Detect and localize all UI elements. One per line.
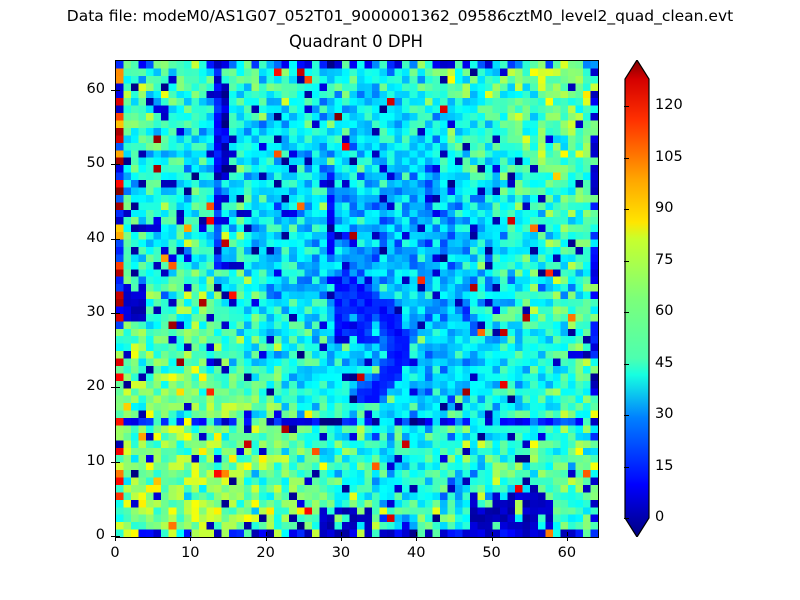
x-tick-label: 0 [85,545,145,562]
colorbar-tick-mark [624,158,629,159]
x-tick-mark [190,537,191,541]
colorbar-tick-mark [624,467,629,468]
x-tick-mark [115,537,116,541]
colorbar-tick-mark [624,518,629,519]
y-tick-mark-inner [116,387,120,388]
data-file-suptitle: Data file: modeM0/AS1G07_052T01_90000013… [0,7,800,25]
colorbar-tick-label: 105 [655,149,683,166]
x-tick-label: 10 [160,545,220,562]
colorbar-tick-label: 75 [655,252,673,269]
y-tick-mark [111,90,115,91]
x-tick-mark [266,537,267,541]
colorbar-tick-label: 60 [655,303,673,320]
x-tick-mark-inner [492,532,493,536]
x-tick-label: 30 [311,545,371,562]
y-tick-mark-inner [116,90,120,91]
colorbar-tick-label: 45 [655,355,673,372]
x-tick-label: 20 [236,545,296,562]
colorbar-tick-mark [624,364,629,365]
y-tick-mark-inner [116,313,120,314]
colorbar[interactable] [624,60,650,537]
y-tick-mark [111,462,115,463]
colorbar-tick-mark [624,261,629,262]
x-tick-mark [416,537,417,541]
y-tick-label: 50 [61,155,105,172]
x-tick-mark-inner [567,532,568,536]
colorbar-tick-label: 90 [655,200,673,217]
y-tick-label: 20 [61,378,105,395]
colorbar-tick-mark [624,312,629,313]
colorbar-tick-mark [624,415,629,416]
colorbar-tick-mark [624,106,629,107]
x-tick-label: 50 [462,545,522,562]
y-tick-mark-inner [116,462,120,463]
y-tick-label: 60 [61,81,105,98]
colorbar-tick-label: 120 [655,97,683,114]
colorbar-tick-label: 30 [655,406,673,423]
colorbar-tick-label: 0 [655,509,664,526]
y-tick-label: 10 [61,453,105,470]
x-tick-label: 40 [386,545,446,562]
y-tick-label: 30 [61,304,105,321]
y-tick-mark [111,239,115,240]
x-tick-mark [341,537,342,541]
colorbar-tick-mark [624,209,629,210]
figure-canvas: Data file: modeM0/AS1G07_052T01_90000013… [0,0,800,600]
y-tick-label: 40 [61,230,105,247]
x-tick-mark [567,537,568,541]
x-tick-mark [492,537,493,541]
y-tick-mark [111,387,115,388]
y-tick-mark-inner [116,536,120,537]
x-tick-mark-inner [266,532,267,536]
x-tick-label: 60 [537,545,597,562]
colorbar-tick-label: 15 [655,458,673,475]
y-tick-mark-inner [116,164,120,165]
y-tick-mark [111,313,115,314]
heatmap-axes[interactable] [115,60,599,538]
colorbar-gradient [624,60,650,537]
plot-title: Quadrant 0 DPH [115,32,597,52]
x-tick-mark-inner [190,532,191,536]
y-tick-mark [111,536,115,537]
x-tick-mark-inner [341,532,342,536]
dph-heatmap-image[interactable] [116,61,598,537]
x-tick-mark-inner [416,532,417,536]
y-tick-mark [111,164,115,165]
y-tick-label: 0 [61,527,105,544]
y-tick-mark-inner [116,239,120,240]
